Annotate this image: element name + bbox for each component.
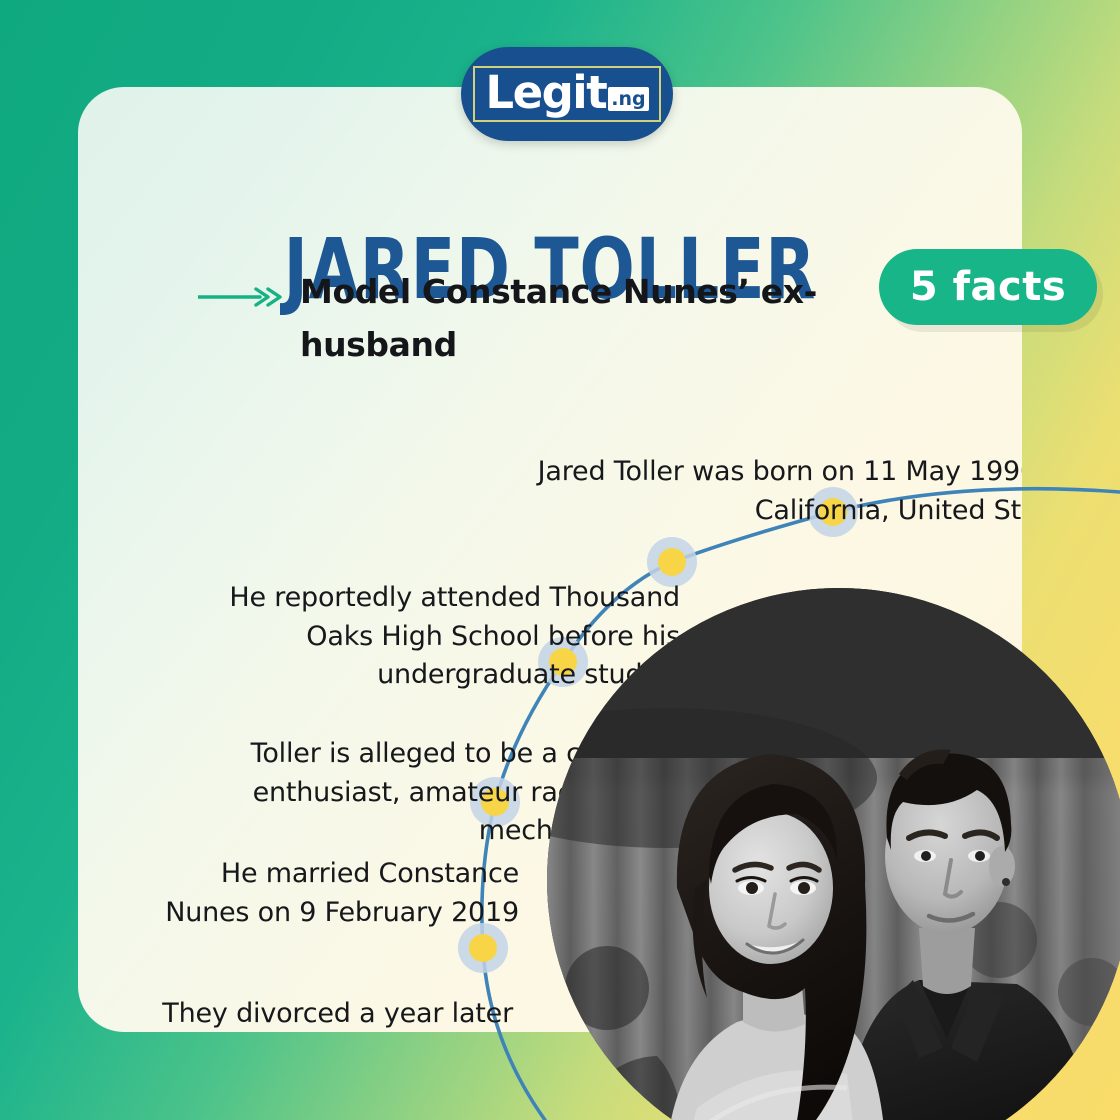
brand-logo[interactable]: Legit .ng bbox=[461, 47, 673, 141]
logo-frame: Legit .ng bbox=[473, 66, 660, 122]
fact-item-4: He married Constance Nunes on 9 February… bbox=[138, 855, 519, 932]
fact-item-1: Jared Toller was born on 11 May 1990, in… bbox=[498, 453, 1022, 530]
facts-count-label: 5 facts bbox=[910, 264, 1066, 310]
logo-tld: .ng bbox=[608, 87, 648, 111]
facts-count-badge: 5 facts bbox=[879, 249, 1097, 325]
logo-wordmark: Legit bbox=[485, 71, 606, 115]
fact-item-5: They divorced a year later in 2020 bbox=[138, 995, 513, 1032]
arrow-right-double-icon bbox=[198, 287, 290, 307]
page-subtitle: Model Constance Nunes’ ex-husband bbox=[300, 265, 860, 372]
fact-item-2: He reportedly attended Thousand Oaks Hig… bbox=[168, 579, 680, 695]
infographic-canvas: JARED TOLLER Model Constance Nunes’ ex-h… bbox=[0, 0, 1120, 1120]
fact-item-3: Toller is alleged to be a car enthusiast… bbox=[138, 735, 608, 851]
